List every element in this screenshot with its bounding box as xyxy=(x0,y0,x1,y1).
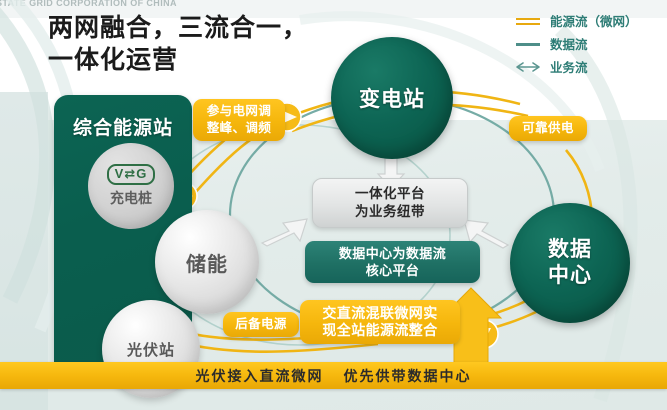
single-line-icon xyxy=(515,37,541,51)
label-reliable-supply: 可靠供电 xyxy=(509,116,587,141)
panel-title: 综合能源站 xyxy=(54,113,192,140)
node-energy-storage[interactable]: 储能 xyxy=(155,210,259,314)
green-caption-line-2: 核心平台 xyxy=(366,262,420,279)
label-backup-power: 后备电源 xyxy=(223,312,299,337)
legend-item-data-flow: 数据流 xyxy=(515,33,665,54)
green-caption-line-1: 数据中心为数据流 xyxy=(339,245,446,262)
bottom-banner: 光伏接入直流微网 优先供带数据中心 xyxy=(0,362,667,389)
node-label-data-center-line2: 中心 xyxy=(548,264,592,287)
node-label-data-center-line1: 数据 xyxy=(548,238,592,261)
legend-item-energy-flow: 能源流（微网） xyxy=(515,10,665,31)
legend-label-data-flow: 数据流 xyxy=(550,34,588,53)
node-data-center[interactable]: 数据 中心 xyxy=(510,203,630,323)
label-peak-line-1: 参与电网调 xyxy=(207,103,272,120)
node-label-charging-pile: 充电桩 xyxy=(110,188,152,208)
node-label-substation: 变电站 xyxy=(359,83,425,113)
node-label-pv-station: 光伏站 xyxy=(127,339,175,360)
bottom-banner-left: 光伏接入直流微网 xyxy=(196,366,324,386)
bottom-banner-right: 优先供带数据中心 xyxy=(344,366,472,386)
v2g-icon: V⇄G xyxy=(107,164,156,185)
node-charging-pile[interactable]: V⇄G 充电桩 xyxy=(88,143,174,229)
label-micro-line-1: 交直流混联微网实 xyxy=(322,305,437,322)
legend-label-energy-flow: 能源流（微网） xyxy=(550,11,638,30)
legend: 能源流（微网） 数据流 业务流 xyxy=(515,10,665,79)
node-label-data-center: 数据 中心 xyxy=(548,237,592,289)
node-label-energy-storage: 储能 xyxy=(186,248,228,277)
platform-line-2: 为业务纽带 xyxy=(355,203,425,221)
label-peak-line-2: 整峰、调频 xyxy=(207,120,272,137)
label-grid-peak-regulation: 参与电网调 整峰、调频 xyxy=(193,99,285,141)
label-hybrid-microgrid: 交直流混联微网实 现全站能源流整合 xyxy=(300,300,460,344)
center-platform-box: 一体化平台 为业务纽带 xyxy=(312,178,468,228)
label-micro-line-2: 现全站能源流整合 xyxy=(322,322,437,339)
legend-item-business-flow: 业务流 xyxy=(515,56,665,77)
data-center-core-caption: 数据中心为数据流 核心平台 xyxy=(305,241,480,283)
double-arrow-icon xyxy=(515,60,541,74)
platform-line-1: 一体化平台 xyxy=(355,185,425,203)
slide-canvas: STATE GRID CORPORATION OF CHINA xyxy=(0,0,667,410)
node-substation[interactable]: 变电站 xyxy=(331,37,453,159)
double-line-icon xyxy=(515,14,541,28)
legend-label-business-flow: 业务流 xyxy=(550,57,588,76)
